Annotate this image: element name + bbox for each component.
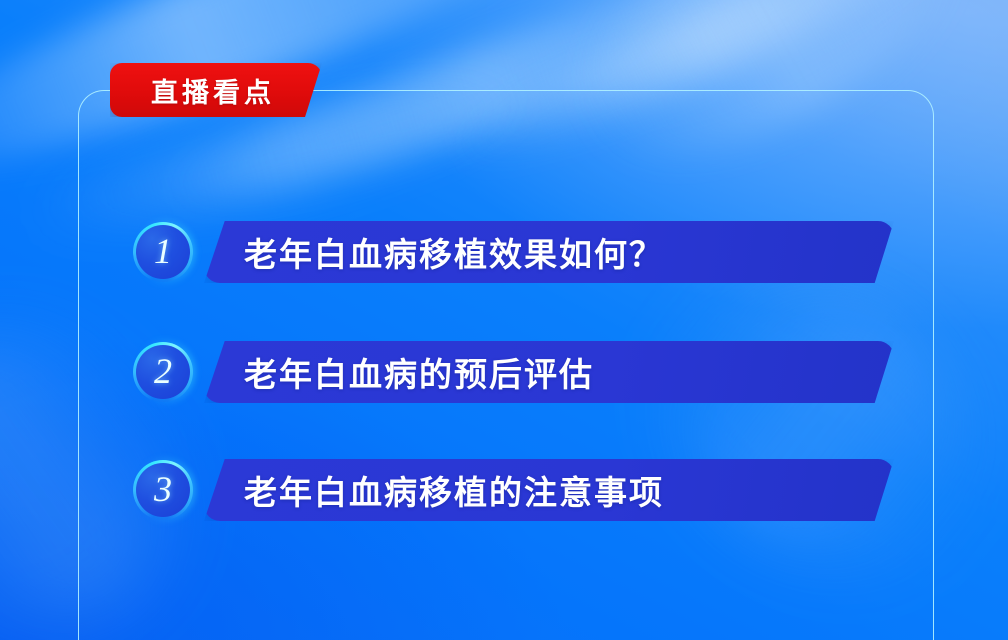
list-item-label: 老年白血病移植的注意事项 [204,466,664,514]
light-streak-decor [538,0,1002,212]
item-number-badge: 3 [128,455,198,525]
list-item[interactable]: 2 老年白血病的预后评估 [128,336,894,408]
section-badge: 直播看点 [110,63,322,117]
list-item[interactable]: 1 老年白血病移植效果如何？ [128,216,894,288]
item-number-badge: 2 [128,337,198,407]
item-number-label: 3 [154,471,172,510]
list-item-pill[interactable]: 老年白血病移植的注意事项 [204,459,894,521]
number-circle-fill: 3 [136,463,191,518]
item-number-label: 1 [154,233,172,272]
item-number-label: 2 [154,353,172,392]
number-circle-fill: 1 [136,225,191,280]
list-item-pill[interactable]: 老年白血病的预后评估 [204,341,894,403]
slide-canvas: 直播看点 1 老年白血病移植效果如何？ 2 老年白血病的预后评估 [0,0,1008,640]
light-streak-decor [442,0,979,183]
number-ring-icon: 1 [133,222,193,282]
number-ring-icon: 2 [133,342,193,402]
section-badge-label: 直播看点 [151,71,281,110]
item-number-badge: 1 [128,217,198,287]
list-item-label: 老年白血病的预后评估 [204,348,594,396]
number-ring-icon: 3 [133,460,193,520]
list-item[interactable]: 3 老年白血病移植的注意事项 [128,454,894,526]
list-item-pill[interactable]: 老年白血病移植效果如何？ [204,221,894,283]
number-circle-fill: 2 [136,345,191,400]
list-item-label: 老年白血病移植效果如何？ [204,228,664,276]
light-streak-decor [0,0,626,212]
